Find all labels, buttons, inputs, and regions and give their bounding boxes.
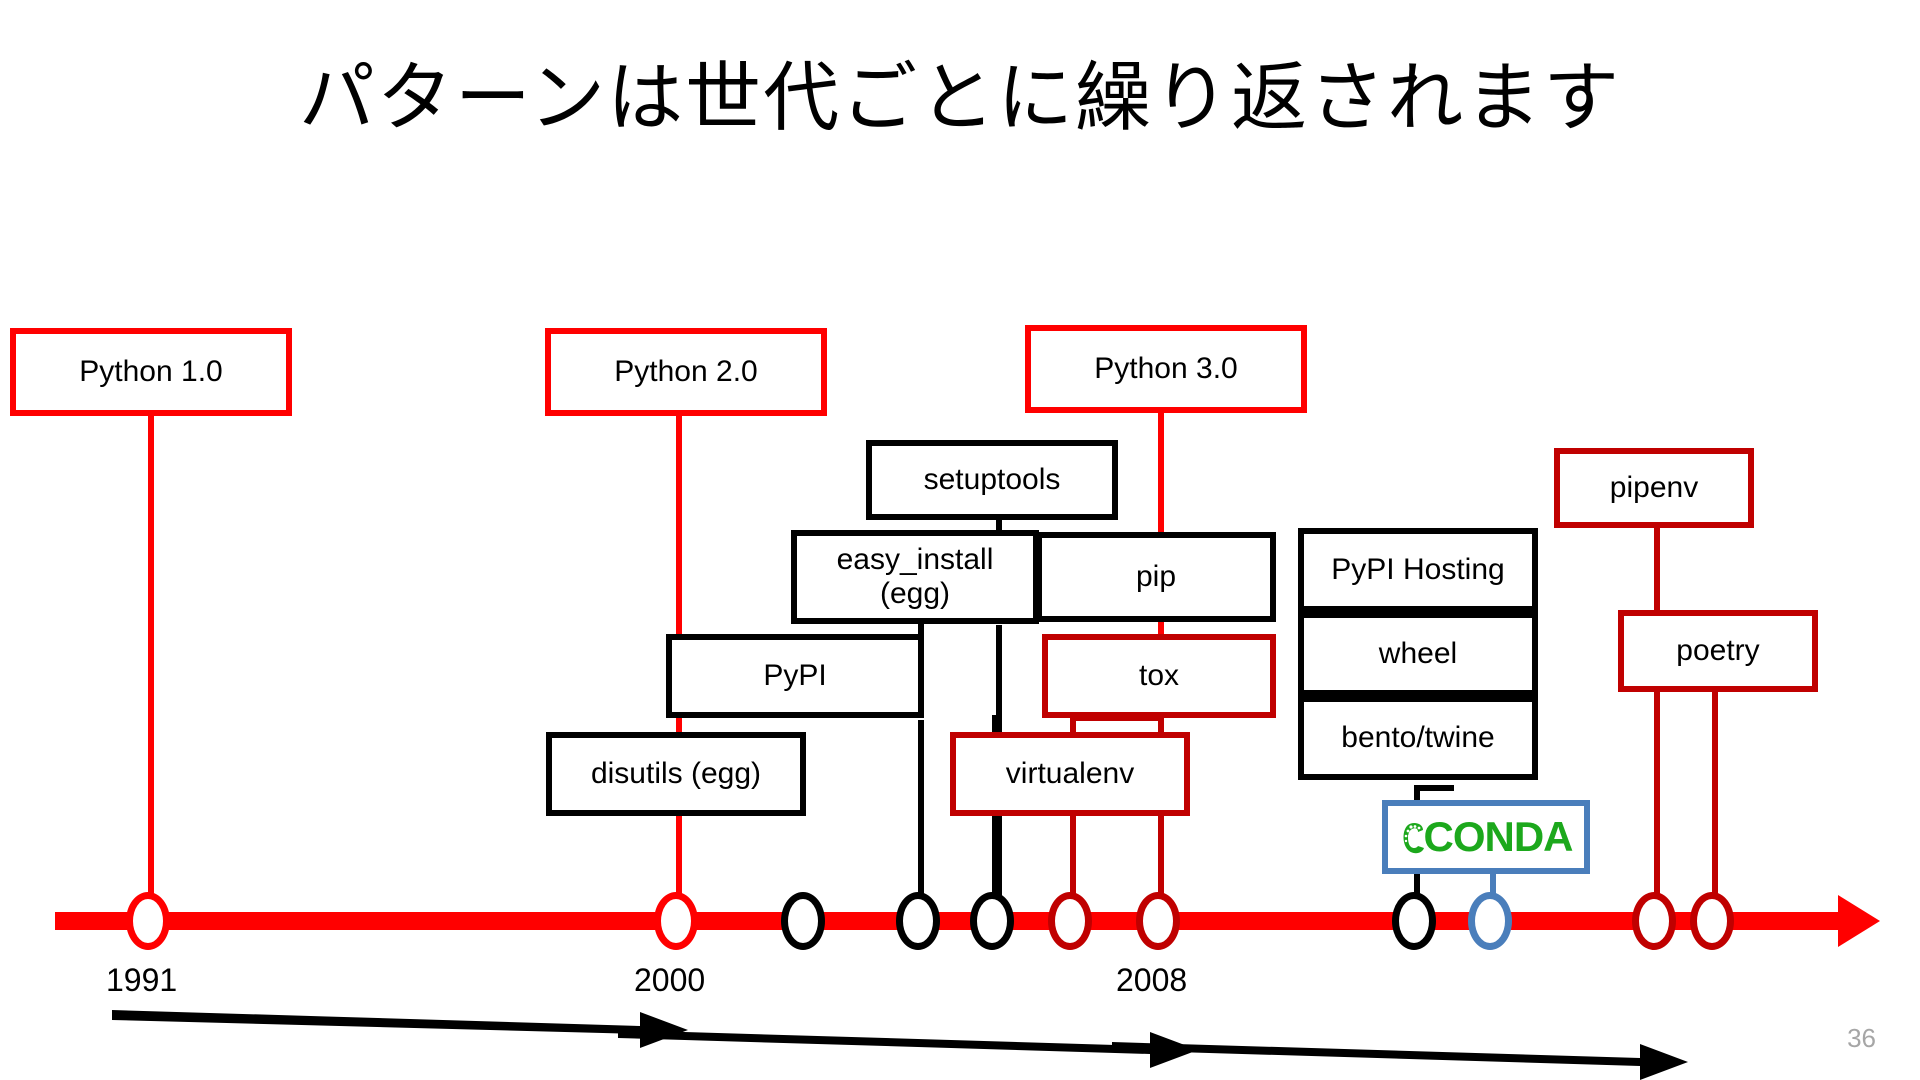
node-easy-install[interactable]: easy_install (egg) — [791, 530, 1039, 624]
timeline-marker-python-1-0[interactable] — [126, 892, 170, 950]
connector-poetry-to-timeline — [1712, 692, 1718, 925]
year-label-1991: 1991 — [106, 962, 177, 999]
page-number: 36 — [1847, 1023, 1876, 1054]
node-label: Python 2.0 — [614, 355, 757, 389]
node-label: virtualenv — [1006, 757, 1134, 791]
connector-pipenv-to-timeline — [1654, 692, 1660, 925]
node-poetry[interactable]: poetry — [1618, 610, 1818, 692]
node-label: bento/twine — [1341, 721, 1494, 755]
node-label: PyPI Hosting — [1331, 553, 1504, 587]
node-python-2-0[interactable]: Python 2.0 — [545, 328, 827, 416]
year-label-2000: 2000 — [634, 962, 705, 999]
node-label: tox — [1139, 659, 1179, 693]
node-setuptools[interactable]: setuptools — [866, 440, 1118, 520]
node-conda[interactable]: CONDA — [1382, 800, 1590, 874]
timeline-axis — [55, 912, 1845, 930]
node-pip[interactable]: pip — [1036, 532, 1276, 622]
node-label: setuptools — [924, 463, 1061, 497]
node-label-line-2: (egg) — [837, 577, 994, 611]
timeline-marker-disutils[interactable] — [781, 892, 825, 950]
timeline-arrowhead-icon — [1838, 895, 1880, 947]
node-pypi-hosting[interactable]: PyPI Hosting — [1298, 528, 1538, 612]
connector-stack-bridge — [1414, 785, 1454, 791]
node-label: CONDA — [1424, 816, 1573, 858]
timeline-marker-virtualenv[interactable] — [1048, 892, 1092, 950]
timeline-marker-pipenv[interactable] — [1632, 892, 1676, 950]
era-arrow-3 — [1112, 1042, 1688, 1080]
conda-wordmark: CONDA — [1400, 816, 1573, 858]
era-arrow-2 — [618, 1030, 1198, 1068]
year-label-2008: 2008 — [1116, 962, 1187, 999]
timeline-marker-python-3-0[interactable] — [1136, 892, 1180, 950]
node-label: poetry — [1676, 634, 1759, 668]
timeline-marker-poetry[interactable] — [1690, 892, 1734, 950]
node-wheel[interactable]: wheel — [1298, 612, 1538, 696]
node-label: PyPI — [763, 659, 826, 693]
timeline-marker-conda[interactable] — [1468, 892, 1512, 950]
connector-python-1-0 — [148, 415, 154, 925]
era-arrows-group — [0, 990, 1920, 1080]
timeline-marker-pypi[interactable] — [896, 892, 940, 950]
node-tox[interactable]: tox — [1042, 634, 1276, 718]
node-label: pip — [1136, 560, 1176, 594]
node-label: pipenv — [1610, 471, 1698, 505]
node-pypi[interactable]: PyPI — [666, 634, 924, 718]
node-bento-twine[interactable]: bento/twine — [1298, 696, 1538, 780]
node-label-line-1: easy_install — [837, 543, 994, 577]
node-python-3-0[interactable]: Python 3.0 — [1025, 325, 1307, 413]
timeline-marker-python-2-0[interactable] — [654, 892, 698, 950]
timeline-marker-setuptools[interactable] — [970, 892, 1014, 950]
node-label: wheel — [1379, 637, 1457, 671]
page-title: パターンは世代ごとに繰り返されます — [0, 56, 1920, 140]
node-disutils[interactable]: disutils (egg) — [546, 732, 806, 816]
node-virtualenv[interactable]: virtualenv — [950, 732, 1190, 816]
node-python-1-0[interactable]: Python 1.0 — [10, 328, 292, 416]
slide-canvas: パターンは世代ごとに繰り返されます Python 1.0 Python 2.0 … — [0, 0, 1920, 1080]
node-label: Python 3.0 — [1094, 352, 1237, 386]
node-pipenv[interactable]: pipenv — [1554, 448, 1754, 528]
conda-snake-icon — [1400, 820, 1428, 856]
era-arrow-1 — [112, 1010, 688, 1048]
node-label: disutils (egg) — [591, 757, 761, 791]
node-label: Python 1.0 — [79, 355, 222, 389]
timeline-marker-pypi-hosting[interactable] — [1392, 892, 1436, 950]
